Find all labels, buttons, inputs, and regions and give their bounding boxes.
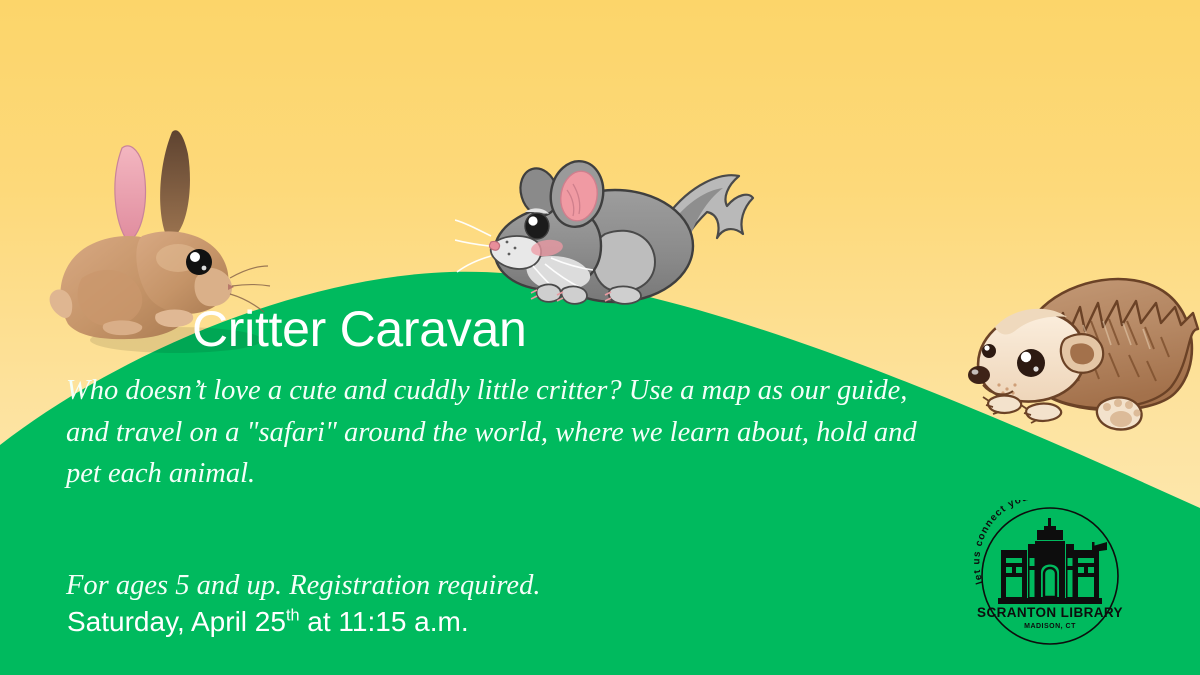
description-line: and travel on a "safari" around the worl… (66, 412, 1006, 454)
description-line: pet each animal. (66, 453, 1006, 495)
event-poster: Critter Caravan Who doesn’t love a cute … (0, 0, 1200, 675)
description-line: Who doesn’t love a cute and cuddly littl… (66, 370, 1006, 412)
ages-registration-note: For ages 5 and up. Registration required… (66, 565, 1006, 607)
text-spacer (66, 495, 1006, 537)
logo-location: MADISON, CT (1024, 623, 1076, 630)
chinchilla-illustration (455, 138, 755, 318)
event-time-suffix: at 11:15 a.m. (300, 606, 469, 637)
event-date-prefix: Saturday, April 25 (67, 606, 286, 637)
event-date-ordinal: th (286, 607, 300, 625)
event-date-time: Saturday, April 25th at 11:15 a.m. (67, 605, 469, 639)
logo-name: SCRANTON LIBRARY (977, 605, 1123, 620)
scranton-library-logo: let us connect you (974, 500, 1126, 652)
description-block: Who doesn’t love a cute and cuddly littl… (66, 370, 1006, 606)
page-title: Critter Caravan (192, 300, 527, 358)
